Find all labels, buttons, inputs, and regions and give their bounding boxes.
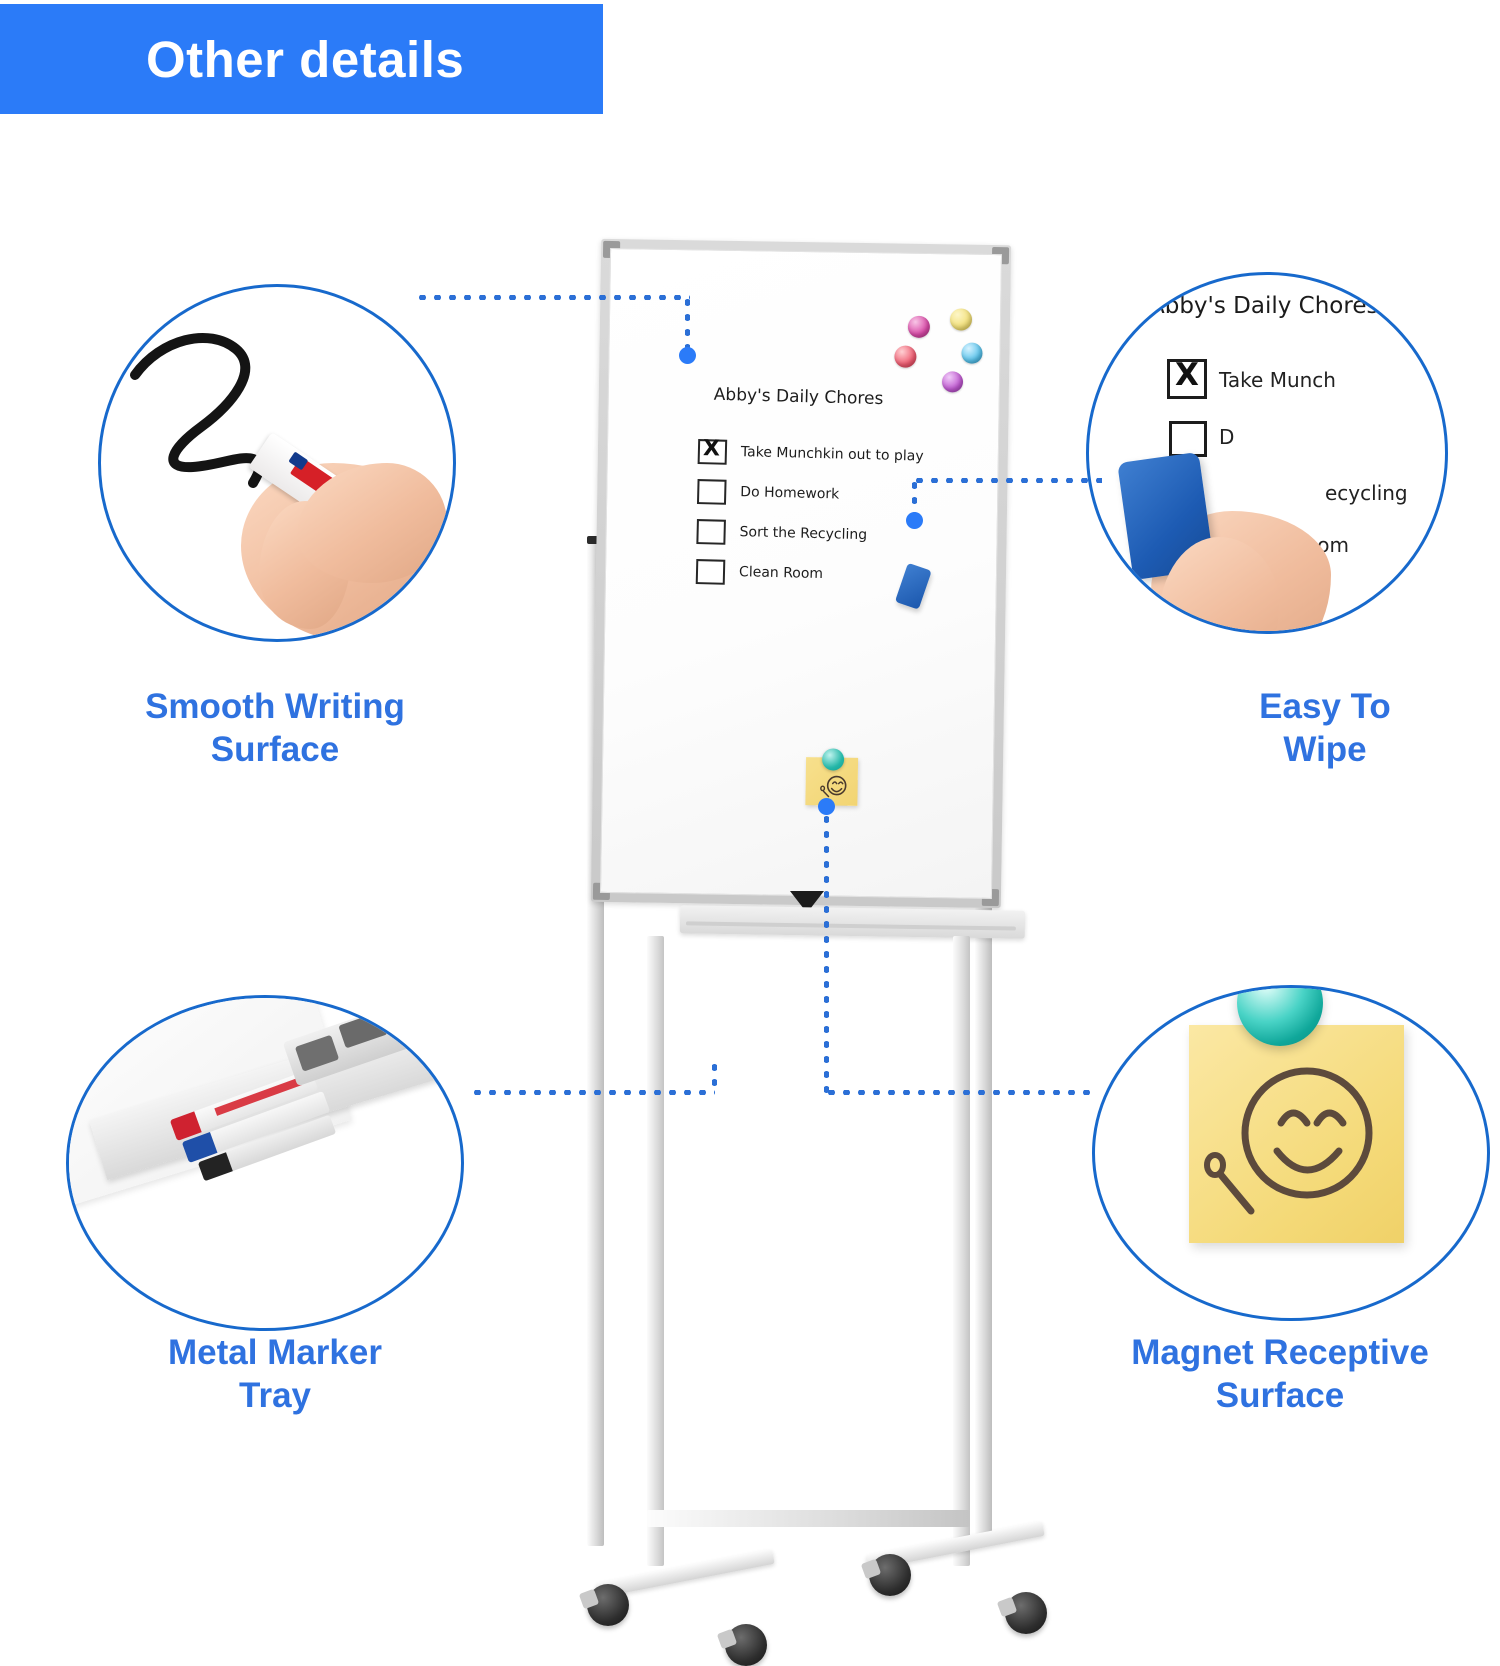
smiley-face-drawing — [1189, 1025, 1404, 1243]
connector-magnet-vertical-upper — [824, 812, 829, 1094]
zoom-chore-line-2: D — [1219, 425, 1234, 449]
chore-label: Clean Room — [739, 564, 823, 582]
checkbox-icon — [697, 479, 727, 505]
sticky-note-on-board — [805, 757, 858, 806]
zoom-chore-line-1: Take Munch — [1219, 368, 1336, 392]
caster-wheel-back-right — [1005, 1592, 1047, 1634]
magnet-blue — [961, 342, 982, 363]
stand-leg-right — [953, 936, 970, 1566]
stand-crossbar — [647, 1510, 970, 1527]
zoom-checkbox-empty — [1169, 421, 1207, 457]
checkbox-checked-icon — [698, 439, 728, 465]
magnet-pink — [894, 345, 916, 367]
whiteboard-writing-surface: Abby's Daily Chores Take Munchkin out to… — [600, 248, 1002, 899]
feature-caption-magnet-receptive-surface: Magnet Receptive Surface — [1060, 1332, 1500, 1417]
caption-line-2: Surface — [1060, 1375, 1500, 1418]
checkbox-icon — [696, 559, 726, 585]
checkbox-icon — [696, 519, 726, 545]
connector-endpoint-smooth-writing — [679, 347, 696, 364]
caster-wheel-front-right — [725, 1624, 767, 1666]
connector-smooth-writing-horizontal — [415, 295, 690, 300]
sticky-note-closeup — [1189, 1025, 1404, 1243]
chore-label: Sort the Recycling — [739, 524, 867, 543]
magnet-yellow — [950, 308, 972, 330]
connector-endpoint-easy-wipe — [906, 512, 923, 529]
chore-label: Take Munchkin out to play — [741, 444, 924, 464]
feature-caption-metal-marker-tray: Metal Marker Tray — [60, 1332, 490, 1417]
tray-lip — [686, 921, 1016, 930]
connector-magnet-horizontal — [824, 1090, 1092, 1095]
metal-marker-tray — [680, 905, 1025, 938]
stand-leg-left — [647, 936, 664, 1566]
connector-endpoint-magnet — [818, 798, 835, 815]
magnet-purple — [942, 371, 963, 392]
connector-marker-tray-vertical — [712, 1060, 717, 1094]
caster-wheel-front-left — [587, 1584, 629, 1626]
chore-list-title: Abby's Daily Chores — [714, 385, 884, 409]
smiley-face-icon — [817, 771, 849, 801]
zoom-checkbox-checked: X — [1167, 359, 1207, 399]
caption-line-2: Surface — [60, 729, 490, 772]
connector-easy-wipe-horizontal — [912, 478, 1102, 483]
feature-image-magnet-receptive-surface — [1092, 985, 1490, 1321]
page-title: Other details — [146, 30, 464, 89]
caster-wheel-back-left — [869, 1554, 911, 1596]
feature-image-smooth-writing-surface — [98, 284, 456, 642]
zoom-chore-title: Abby's Daily Chores — [1149, 293, 1378, 319]
feature-caption-easy-to-wipe: Easy To Wipe — [1110, 686, 1500, 771]
caption-line-1: Smooth Writing — [60, 686, 490, 729]
header-banner: Other details — [0, 4, 603, 114]
teal-magnet-on-board — [822, 748, 844, 770]
magnet-magenta — [908, 316, 930, 338]
caption-line-1: Magnet Receptive — [1060, 1332, 1500, 1375]
zoom-chore-line-3: ecycling — [1325, 481, 1408, 505]
caption-line-2: Wipe — [1110, 729, 1500, 772]
chore-label: Do Homework — [740, 484, 839, 502]
connector-smooth-writing-vertical — [685, 295, 690, 353]
caption-line-2: Tray — [60, 1375, 490, 1418]
chore-list: Take Munchkin out to play Do Homework So… — [696, 432, 998, 597]
connector-marker-tray-horizontal — [470, 1090, 715, 1095]
feature-image-metal-marker-tray — [66, 995, 464, 1331]
caption-line-1: Metal Marker — [60, 1332, 490, 1375]
feature-caption-smooth-writing-surface: Smooth Writing Surface — [60, 686, 490, 771]
caption-line-1: Easy To — [1110, 686, 1500, 729]
whiteboard-frame: Abby's Daily Chores Take Munchkin out to… — [591, 239, 1011, 908]
mobile-whiteboard-product: Abby's Daily Chores Take Munchkin out to… — [585, 236, 1020, 936]
chore-item: Clean Room — [696, 551, 997, 598]
feature-image-easy-to-wipe: Abby's Daily Chores X Take Munch D ecycl… — [1086, 272, 1448, 634]
